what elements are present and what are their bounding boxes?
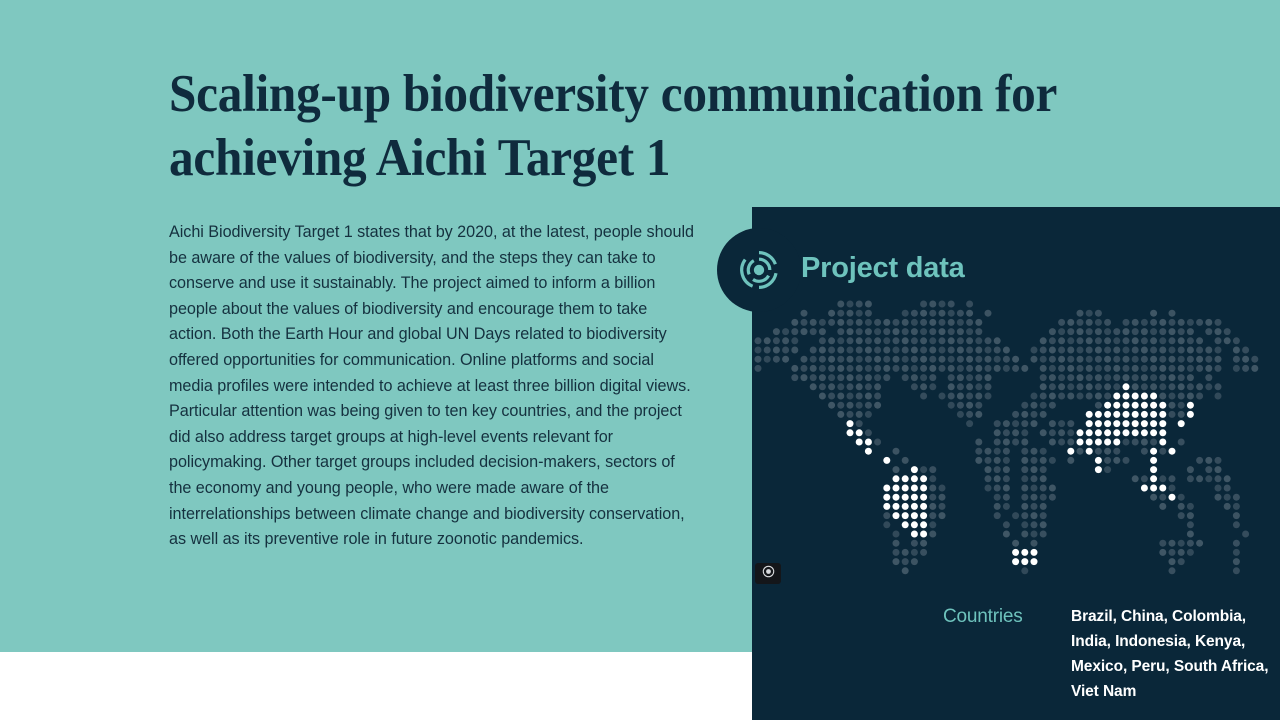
data-value-countries: Brazil, China, Colombia, India, Indonesi… (1071, 604, 1280, 704)
concentric-target-icon (735, 246, 783, 294)
project-data-rows: Countries Brazil, China, Colombia, India… (943, 604, 1280, 720)
panel-heading: Project data (801, 252, 965, 285)
hero-text-column: Scaling-up biodiversity communication fo… (169, 0, 699, 553)
data-row-countries: Countries Brazil, China, Colombia, India… (943, 604, 1280, 704)
project-description: Aichi Biodiversity Target 1 states that … (169, 220, 697, 553)
world-dot-map (752, 300, 1280, 590)
page-root: Scaling-up biodiversity communication fo… (0, 0, 1280, 720)
page-title: Scaling-up biodiversity communication fo… (169, 62, 1090, 190)
map-credit-badge[interactable] (755, 563, 781, 584)
data-label-countries: Countries (943, 604, 1071, 629)
dot-map-svg (752, 300, 1280, 590)
copyright-info-icon (762, 565, 775, 583)
